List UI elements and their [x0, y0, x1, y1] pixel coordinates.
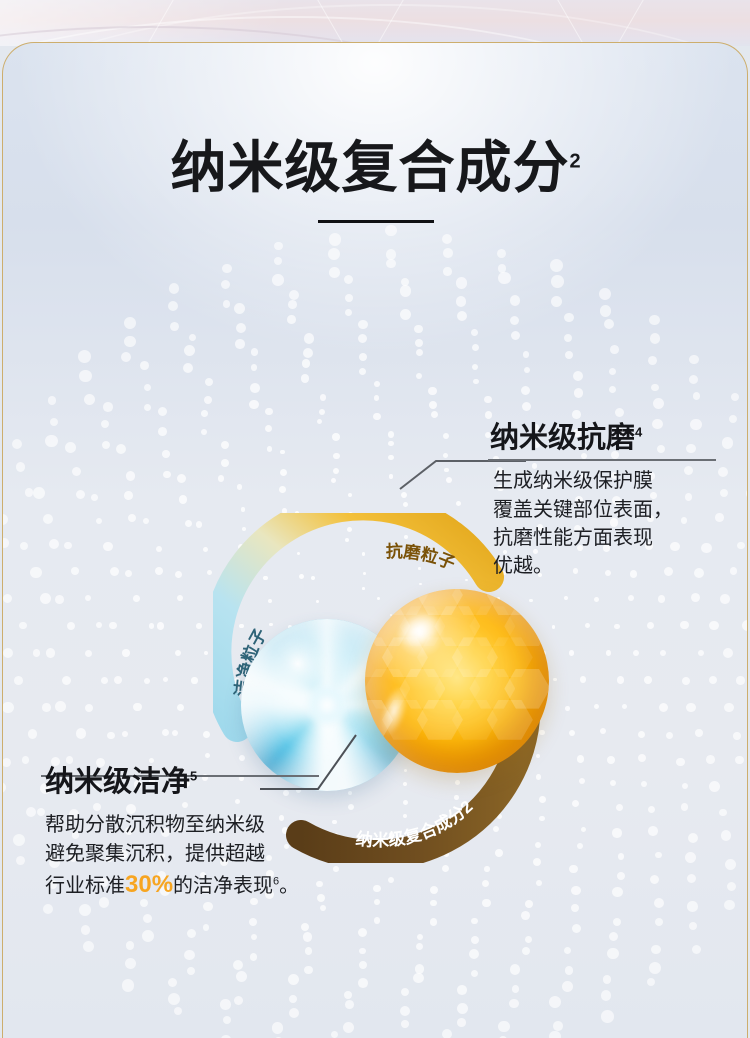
- callout-left-body: 帮助分散沉积物至纳米级 避免聚集沉积，提供超越 行业标准30%的洁净表现6。: [37, 811, 337, 902]
- callout-left-heading: 纳米级洁净5: [37, 765, 337, 799]
- sphere-swirl-core: [305, 683, 349, 727]
- page-title-text: 纳米级复合成分: [170, 136, 569, 199]
- callout-left-percent-highlight: 30%: [125, 871, 173, 898]
- callout-right-heading-text: 纳米级抗磨: [490, 422, 635, 454]
- callout-right-line-1: 生成纳米级保护膜: [493, 467, 725, 495]
- callout-left-line-2: 避免聚集沉积，提供超越: [45, 840, 337, 868]
- callout-anti-wear: 纳米级抗磨4 生成纳米级保护膜 覆盖关键部位表面， 抗磨性能方面表现 优越。: [490, 421, 725, 581]
- page-title-footnote: 2: [569, 150, 581, 172]
- callout-left-heading-footnote: 5: [190, 768, 197, 783]
- callout-left-line3-end: 。: [279, 875, 299, 897]
- callout-left-line-3: 行业标准30%的洁净表现6。: [45, 868, 337, 902]
- callout-left-heading-text: 纳米级洁净: [45, 766, 190, 798]
- callout-right-line-2: 覆盖关键部位表面，: [493, 496, 725, 524]
- callout-right-heading: 纳米级抗磨4: [490, 421, 725, 455]
- page-title: 纳米级复合成分2: [3, 139, 748, 198]
- callout-cleaning: 纳米级洁净5 帮助分散沉积物至纳米级 避免聚集沉积，提供超越 行业标准30%的洁…: [37, 765, 337, 902]
- callout-left-line3-post: 的洁净表现: [173, 875, 273, 897]
- callout-left-line-1: 帮助分散沉积物至纳米级: [45, 811, 337, 839]
- sphere-facets: [365, 589, 549, 773]
- title-divider: [318, 220, 434, 223]
- callout-right-heading-footnote: 4: [635, 424, 642, 439]
- callout-right-line-3: 抗磨性能方面表现: [493, 524, 725, 552]
- anti-wear-particle-sphere: [365, 589, 549, 773]
- poster-root: 纳米级复合成分2: [0, 0, 750, 1038]
- page-title-block: 纳米级复合成分2: [3, 139, 748, 223]
- gold-frame-panel: 纳米级复合成分2: [2, 42, 748, 1038]
- top-decorative-band: [0, 0, 750, 46]
- callout-left-line3-pre: 行业标准: [45, 875, 125, 897]
- callout-right-line-4: 优越。: [493, 552, 725, 580]
- callout-right-body: 生成纳米级保护膜 覆盖关键部位表面， 抗磨性能方面表现 优越。: [490, 467, 725, 581]
